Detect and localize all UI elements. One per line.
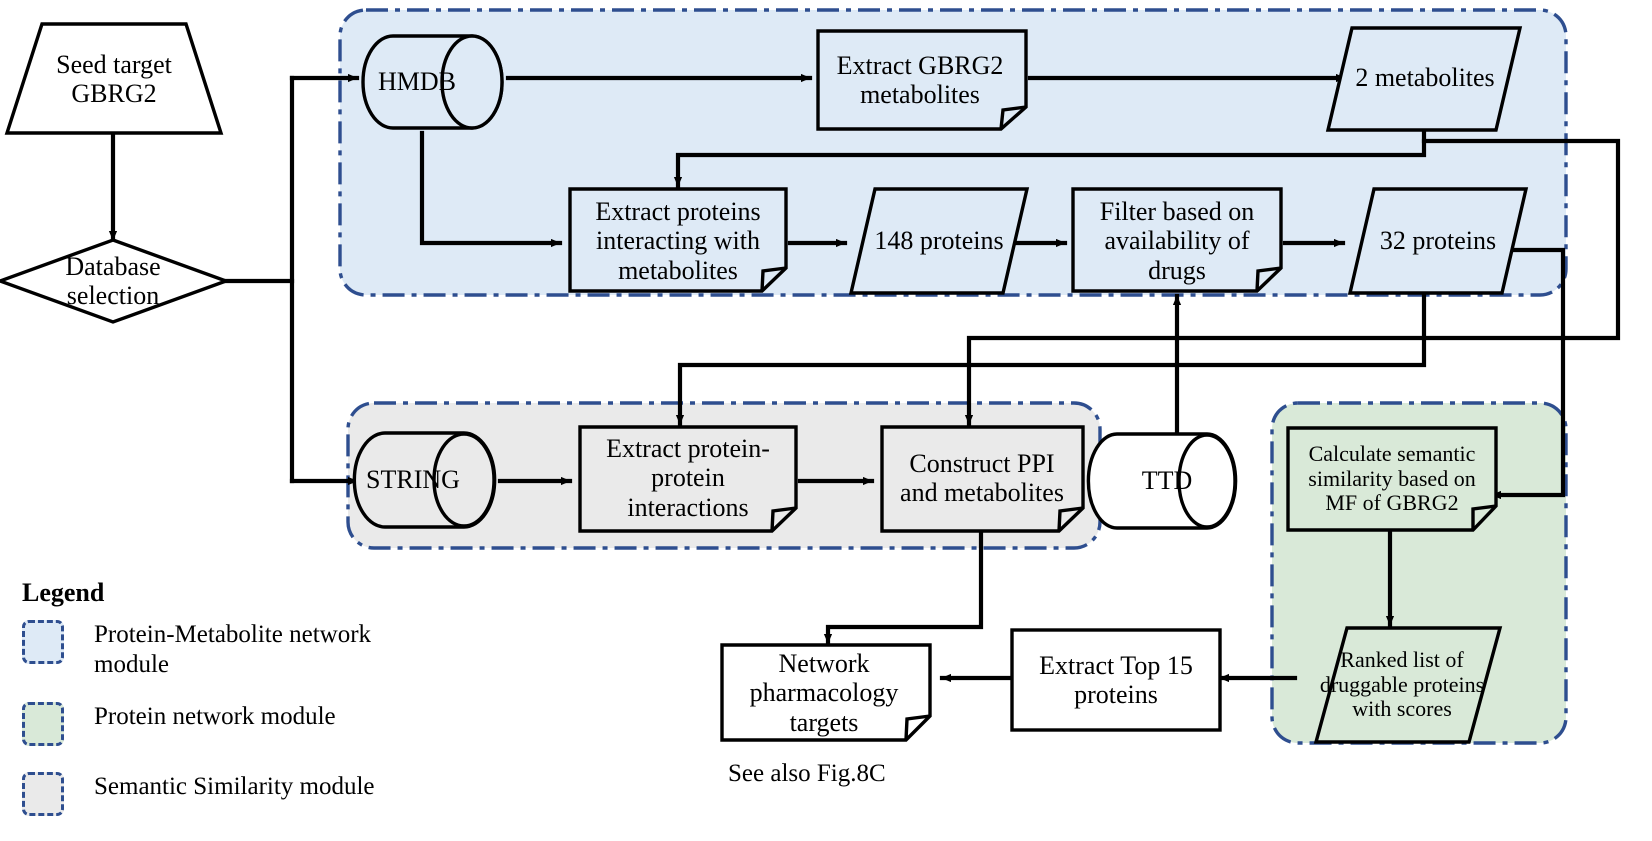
legend-swatch-protein-network xyxy=(22,702,64,746)
node-ranked-list[interactable]: Ranked list of druggable proteins with s… xyxy=(1312,636,1492,734)
node-database-selection-label: Database selection xyxy=(14,252,212,310)
legend-item-protein-metabolite: Protein-Metabolite network module xyxy=(22,620,424,679)
node-ttd-label: TTD xyxy=(1136,466,1199,495)
legend-label-protein-network: Protein network module xyxy=(94,702,424,732)
node-extract-ppi[interactable]: Extract protein-protein interactions xyxy=(582,430,794,526)
node-hmdb[interactable]: HMDB xyxy=(362,58,472,106)
node-32-proteins-label: 32 proteins xyxy=(1374,226,1502,255)
node-string[interactable]: STRING xyxy=(354,456,472,504)
legend-label-protein-metabolite: Protein-Metabolite network module xyxy=(94,620,424,679)
node-construct-ppi-metabolites-label: Construct PPI and metabolites xyxy=(884,449,1080,507)
node-filter-drug-availability-label: Filter based on availability of drugs xyxy=(1076,197,1278,284)
node-network-pharmacology-targets-label: Network pharmacology targets xyxy=(724,649,924,736)
node-ttd[interactable]: TTD xyxy=(1117,457,1217,505)
node-database-selection[interactable]: Database selection xyxy=(14,240,212,322)
node-construct-ppi-metabolites[interactable]: Construct PPI and metabolites xyxy=(884,430,1080,526)
legend-swatch-protein-metabolite xyxy=(22,620,64,664)
legend-title: Legend xyxy=(22,578,104,608)
node-seed-target-label: Seed target GBRG2 xyxy=(20,50,208,108)
node-extract-gbrg2-metabolites-label: Extract GBRG2 metabolites xyxy=(820,51,1020,109)
figure-caption: See also Fig.8C xyxy=(728,760,886,788)
legend-label-semantic-similarity: Semantic Similarity module xyxy=(94,772,424,802)
legend-item-protein-network: Protein network module xyxy=(22,702,424,746)
node-extract-top15[interactable]: Extract Top 15 proteins xyxy=(1014,634,1218,726)
node-extract-top15-label: Extract Top 15 proteins xyxy=(1014,651,1218,709)
node-extract-gbrg2-metabolites[interactable]: Extract GBRG2 metabolites xyxy=(820,36,1020,124)
node-calculate-semantic-similarity-label: Calculate semantic similarity based on M… xyxy=(1290,442,1494,516)
legend-item-semantic-similarity: Semantic Similarity module xyxy=(22,772,424,816)
node-2-metabolites[interactable]: 2 metabolites xyxy=(1340,32,1510,124)
node-ranked-list-label: Ranked list of druggable proteins with s… xyxy=(1312,648,1492,722)
node-148-proteins-label: 148 proteins xyxy=(868,226,1009,255)
legend-swatch-semantic-similarity xyxy=(22,772,64,816)
node-calculate-semantic-similarity[interactable]: Calculate semantic similarity based on M… xyxy=(1290,432,1494,526)
node-seed-target[interactable]: Seed target GBRG2 xyxy=(20,30,208,128)
node-extract-proteins-interacting-label: Extract proteins interacting with metabo… xyxy=(572,197,784,284)
node-hmdb-label: HMDB xyxy=(372,67,462,96)
node-2-metabolites-label: 2 metabolites xyxy=(1349,63,1500,92)
node-string-label: STRING xyxy=(360,465,466,494)
node-network-pharmacology-targets[interactable]: Network pharmacology targets xyxy=(724,650,924,736)
node-extract-ppi-label: Extract protein-protein interactions xyxy=(582,434,794,521)
node-32-proteins[interactable]: 32 proteins xyxy=(1358,195,1518,287)
node-extract-proteins-interacting[interactable]: Extract proteins interacting with metabo… xyxy=(572,194,784,288)
flowchart-canvas: Seed target GBRG2 Database selection HMD… xyxy=(0,0,1652,841)
node-148-proteins[interactable]: 148 proteins xyxy=(859,195,1019,287)
node-filter-drug-availability[interactable]: Filter based on availability of drugs xyxy=(1076,194,1278,288)
